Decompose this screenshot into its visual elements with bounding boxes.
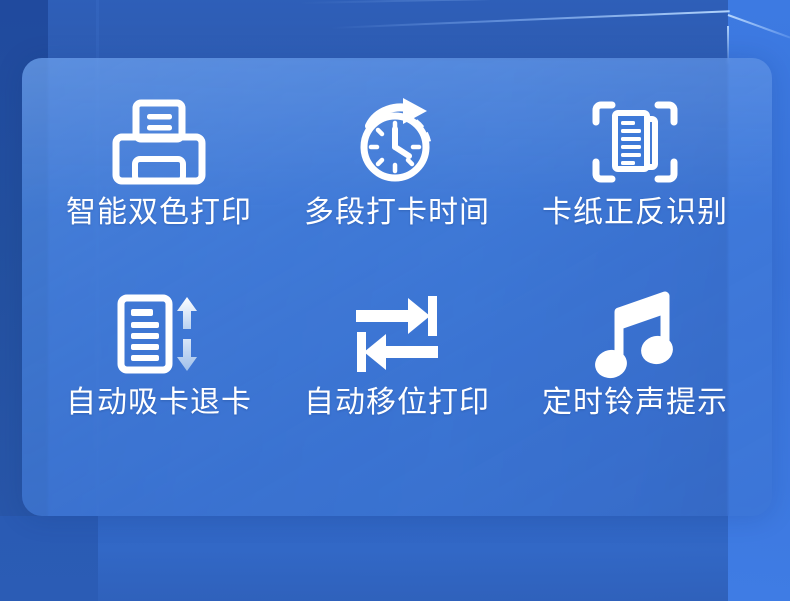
feature-label: 自动移位打印 [304,386,490,419]
feature-card: 智能双色打印 [22,58,772,516]
feature-label: 自动吸卡退卡 [66,386,252,419]
music-note-icon [593,284,677,384]
printer-icon [111,88,207,196]
feature-label: 定时铃声提示 [542,386,728,419]
feature-item-card-orientation-detect[interactable]: 卡纸正反识别 [516,88,754,284]
swap-arrows-icon [352,284,442,384]
feature-label: 多段打卡时间 [304,196,490,229]
feature-item-scheduled-bell-alert[interactable]: 定时铃声提示 [516,284,754,480]
feature-item-smart-duotone-print[interactable]: 智能双色打印 [40,88,278,284]
feature-grid: 智能双色打印 [22,58,772,516]
background-floor-left [0,516,98,601]
scan-document-icon [589,88,681,196]
document-up-down-arrows-icon [115,284,203,384]
feature-item-auto-shift-print[interactable]: 自动移位打印 [278,284,516,480]
clock-arrow-icon [351,88,443,196]
background-floor [48,516,728,601]
promo-feature-panel: 智能双色打印 [0,0,790,601]
feature-item-auto-feed-eject[interactable]: 自动吸卡退卡 [40,284,278,480]
feature-label: 卡纸正反识别 [542,196,728,229]
feature-label: 智能双色打印 [66,196,252,229]
feature-item-multi-segment-punch-time[interactable]: 多段打卡时间 [278,88,516,284]
